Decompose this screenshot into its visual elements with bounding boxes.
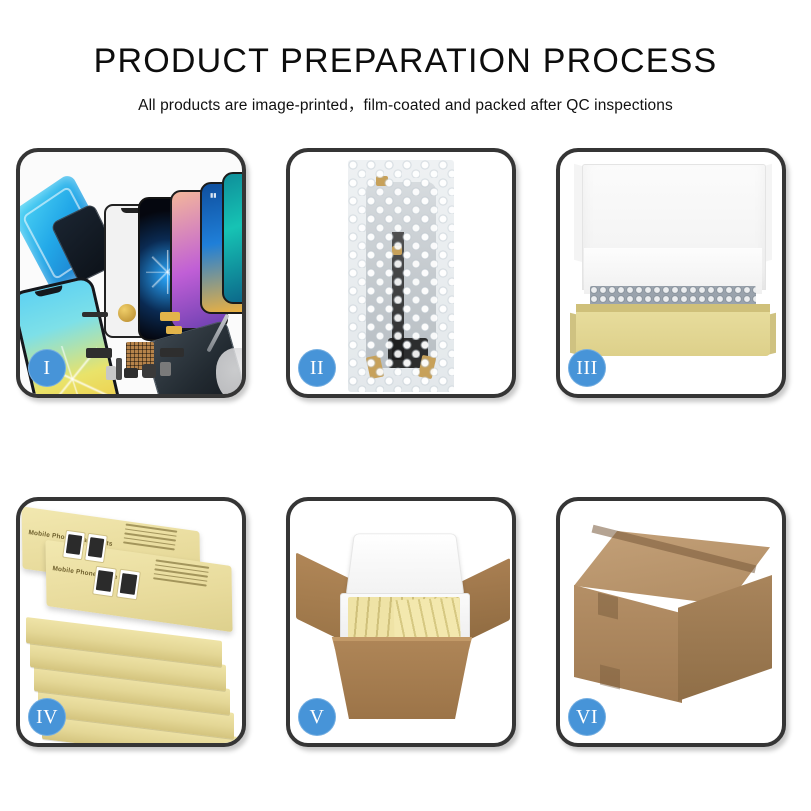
step-badge-3: III (568, 349, 606, 387)
foam-lid (345, 533, 464, 597)
box-screen-thumb (92, 566, 117, 598)
carton-tape-patch (600, 665, 620, 690)
gold-boxes-row (393, 598, 460, 640)
step-badge-6: VI (568, 698, 606, 736)
process-step-6: VI (556, 497, 786, 747)
vibration-motor-part (118, 304, 136, 322)
status-bar-glyph: ▮▮ (210, 192, 217, 199)
process-step-1: ▮▮ I (16, 148, 246, 398)
bubble-texture (348, 160, 454, 392)
process-step-grid: ▮▮ I (16, 148, 795, 748)
flex-cable-part (86, 348, 112, 358)
gold-connector-part (160, 312, 180, 321)
box-screen-thumb (62, 530, 86, 561)
phone-teal (222, 172, 242, 304)
flex-cable-part (160, 348, 184, 357)
small-component (116, 358, 122, 380)
step-badge-5: V (298, 698, 336, 736)
gold-tray-base (576, 312, 770, 356)
process-step-2: II (286, 148, 516, 398)
process-step-3: III (556, 148, 786, 398)
process-step-4: Mobile Phone Spare Parts Mobile Phone Sp… (16, 497, 246, 747)
small-component (160, 362, 171, 376)
gold-connector-part (166, 326, 182, 334)
carton-body (324, 641, 480, 719)
page-title: PRODUCT PREPARATION PROCESS (0, 44, 811, 80)
flex-cable-part (82, 312, 108, 317)
hand-holding-part (216, 348, 242, 394)
header: PRODUCT PREPARATION PROCESS All products… (0, 0, 811, 115)
camera-module-part (142, 364, 156, 378)
step-badge-1: I (28, 349, 66, 387)
small-component (106, 366, 116, 380)
carton-front-face (574, 585, 682, 703)
carton-tape-patch (598, 593, 618, 620)
box-screen-thumb (116, 569, 141, 601)
product-preparation-infographic: PRODUCT PREPARATION PROCESS All products… (0, 0, 811, 811)
bubble-wrap-bag (348, 160, 454, 392)
process-step-5: V (286, 497, 516, 747)
small-component (124, 368, 138, 378)
box-screen-thumb (84, 533, 108, 564)
step-badge-2: II (298, 349, 336, 387)
step-badge-4: IV (28, 698, 66, 736)
page-subtitle: All products are image-printed，film-coat… (0, 93, 811, 115)
